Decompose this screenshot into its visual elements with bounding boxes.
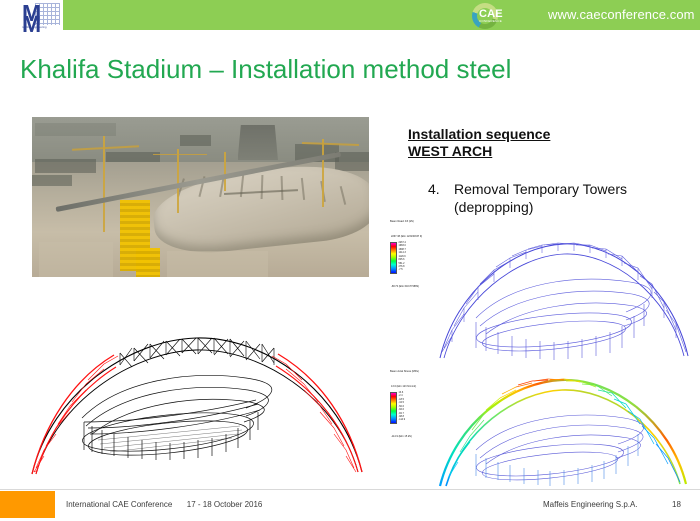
cae-conference-logo: CAE CONFERENCE (470, 1, 522, 30)
arch-web-members-red (34, 356, 356, 472)
footer-divider (0, 489, 700, 490)
slide-canvas: M M maffeis engineering CAE CONFERENCE w… (0, 0, 700, 521)
logo-caption: maffeis engineering (22, 26, 47, 29)
footer-conference-info: International CAE Conference 17 - 18 Oct… (66, 500, 262, 509)
conference-website-url[interactable]: www.caeconference.com (548, 7, 695, 22)
footer-page-number: 18 (672, 500, 681, 509)
arch-red-right-chord (278, 354, 362, 472)
fea-displacement-legend: Beam React FZ (kN) 2267.38 (Elm 123136/C… (390, 220, 422, 292)
arch-top-chord (32, 338, 362, 474)
legend-title: Beam React FZ (kN) (390, 220, 422, 223)
fea-arch-displacement-plot (404, 232, 694, 362)
step-number: 4. (428, 180, 440, 198)
legend-min-value: -68.70 (Elm 64/CH 5889) (391, 285, 419, 288)
fea-roof-structure (475, 279, 651, 356)
fea-stress-svg (404, 372, 694, 490)
arch-web-members-black (120, 338, 274, 367)
stress-roof-structure (475, 415, 644, 485)
photo-stadium-bowl (150, 158, 369, 258)
arch-truss-wireframe-svg (10, 322, 380, 482)
legend-color-bar (390, 392, 397, 424)
photo-ground (167, 251, 268, 277)
arch-red-right-chord (276, 366, 358, 472)
photo-cooling-tower (238, 125, 278, 160)
photo-crane-mast (103, 136, 105, 232)
photo-building (32, 175, 72, 186)
photo-ground (39, 242, 113, 277)
photo-temporary-tower (136, 248, 160, 277)
footer-accent-block (0, 491, 55, 518)
photo-building (35, 123, 116, 136)
photo-crane-mast (177, 149, 179, 213)
photo-crane-jib (153, 154, 207, 156)
fea-displacement-svg (404, 232, 694, 362)
legend-max-value: 13.6 (Elm 123 N/mm2) (391, 385, 416, 388)
fea-stress-legend: Beam Axial Stress (MPa) 13.6 (Elm 123 N/… (390, 370, 419, 442)
legend-color-bar (390, 242, 397, 274)
step-text: Removal Temporary Towers (depropping) (454, 180, 678, 216)
legend-min-value: -114.9 (Elm 15 kN) (391, 435, 412, 438)
sequence-step-4: 4. Removal Temporary Towers (depropping) (428, 180, 678, 216)
legend-tick-labels: 2267.4 1983.0 1698.7 1414.3 1129.9 845.6… (399, 242, 406, 272)
stress-web-members (448, 379, 680, 482)
footer-conference-dates: 17 - 18 October 2016 (187, 500, 263, 509)
cae-logo-sublabel: CONFERENCE (479, 19, 502, 23)
footer-conference-name: International CAE Conference (66, 500, 172, 509)
photo-building (180, 135, 210, 146)
photo-building (35, 159, 96, 173)
arch-roof-structure (81, 375, 272, 461)
sequence-heading-line-2: WEST ARCH (408, 143, 550, 160)
photo-crane-mast (322, 139, 324, 206)
stress-support-columns (476, 434, 638, 486)
maffeis-logo: M M maffeis engineering (22, 2, 62, 32)
arch-truss-wireframe (10, 322, 380, 482)
installation-sequence-heading: Installation sequence WEST ARCH (408, 126, 550, 160)
khalifa-stadium-construction-photo (32, 117, 369, 277)
fea-arch-stress-contour-plot (404, 372, 694, 490)
logo-letter-m-lower: M (22, 13, 39, 35)
legend-tick: -114.9 (399, 419, 406, 422)
legend-title: Beam Axial Stress (MPa) (390, 370, 419, 373)
footer-company-name: Maffeis Engineering S.p.A. (543, 500, 638, 509)
photo-building (106, 152, 160, 162)
sequence-heading-line-1: Installation sequence (408, 126, 550, 143)
legend-tick: -7.5 (399, 269, 406, 272)
slide-title: Khalifa Stadium – Installation method st… (20, 54, 511, 85)
stress-bottom-chord (446, 390, 680, 486)
legend-max-value: 2267.38 (Elm 123136/CH 9) (391, 235, 422, 238)
legend-tick-labels: 13.6 -2.4 -18.5 -34.5 -50.6 -66.6 -82.7 … (399, 392, 406, 422)
photo-crane-mast (224, 152, 226, 190)
